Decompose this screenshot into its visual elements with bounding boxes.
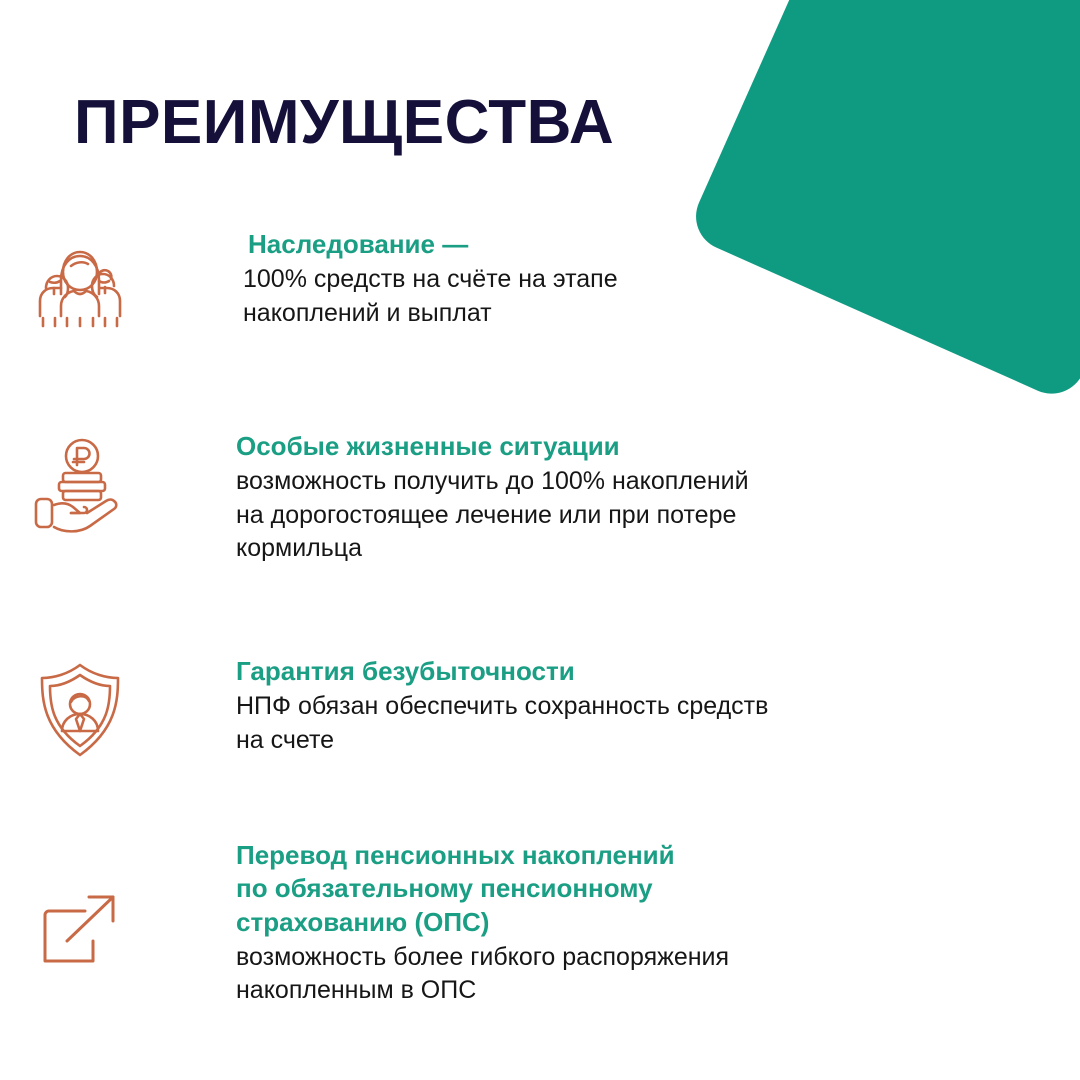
benefit-text: Наследование — 100% средств на счёте на … (160, 228, 1080, 330)
benefit-heading: Особые жизненные ситуации (236, 430, 900, 463)
benefit-text: Гарантия безубыточности НПФ обязан обесп… (160, 655, 1080, 757)
benefit-item: Перевод пенсионных накоплений по обязате… (0, 839, 1080, 1007)
page-title: ПРЕИМУЩЕСТВА (74, 92, 614, 154)
benefit-item: Особые жизненные ситуации возможность по… (0, 430, 1080, 565)
benefit-body: 100% средств на счёте на этапе накоплени… (242, 263, 900, 330)
benefit-text: Особые жизненные ситуации возможность по… (160, 430, 1080, 565)
shield-with-person-icon (0, 655, 160, 759)
benefit-heading: Гарантия безубыточности (236, 655, 900, 688)
family-icon (0, 228, 160, 330)
benefit-item: Наследование — 100% средств на счёте на … (0, 228, 1080, 330)
benefit-item: Гарантия безубыточности НПФ обязан обесп… (0, 655, 1080, 759)
benefit-body: возможность получить до 100% накоплений … (236, 465, 900, 565)
benefit-heading: Наследование — (242, 228, 900, 261)
benefit-body: возможность более гибкого распоряжения н… (236, 941, 900, 1008)
benefit-body: НПФ обязан обеспечить сохранность средст… (236, 690, 900, 757)
share-arrow-icon (0, 839, 160, 969)
benefit-text: Перевод пенсионных накоплений по обязате… (160, 839, 1080, 1007)
benefit-heading: Перевод пенсионных накоплений по обязате… (236, 839, 900, 939)
benefits-list: Наследование — 100% средств на счёте на … (0, 228, 1080, 1007)
hand-with-coins-ruble-icon (0, 430, 160, 536)
poster-canvas: ПРЕИМУЩЕСТВА (0, 0, 1080, 1080)
